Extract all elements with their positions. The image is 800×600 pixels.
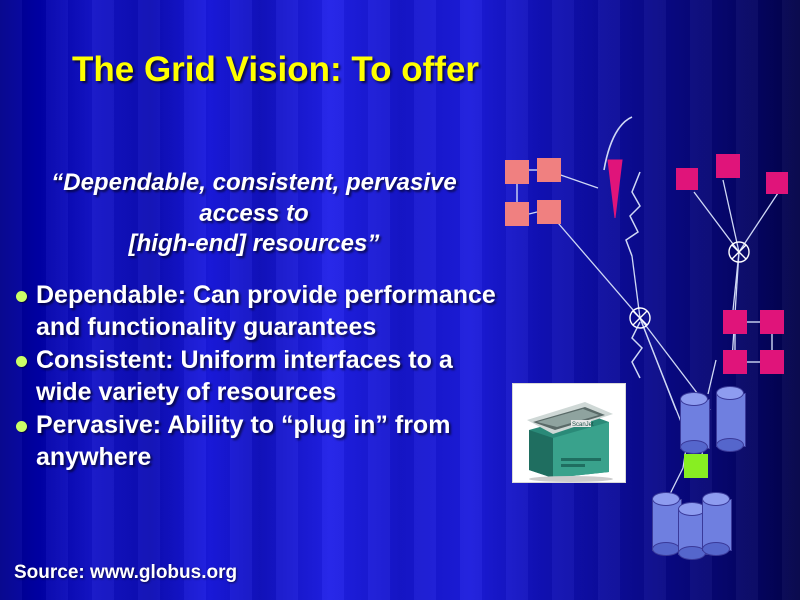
grid-network-diagram bbox=[480, 110, 800, 580]
quote-line-3: [high-end] resources” bbox=[14, 229, 494, 260]
bullet-dot-icon bbox=[16, 291, 27, 302]
list-item: Dependable: Can provide performance and … bbox=[14, 280, 504, 343]
database-cylinder-1 bbox=[680, 392, 708, 454]
database-cylinder-3 bbox=[652, 492, 680, 556]
database-cylinder-5 bbox=[702, 492, 730, 556]
bullet-list: Dependable: Can provide performance and … bbox=[14, 280, 504, 475]
bullet-text: Consistent: Uniform interfaces to a wide… bbox=[36, 346, 453, 406]
source-credit: Source: www.globus.org bbox=[14, 562, 237, 584]
node-magenta-3 bbox=[766, 172, 788, 194]
quote-line-2: access to bbox=[14, 199, 494, 230]
bullet-text: Dependable: Can provide performance and … bbox=[36, 281, 496, 341]
slide-canvas: The Grid Vision: To offer “Dependable, c… bbox=[0, 0, 800, 600]
bullet-text: Pervasive: Ability to “plug in” from any… bbox=[36, 411, 450, 471]
scanner-illustration: ScanJet bbox=[513, 384, 625, 482]
node-magenta-4 bbox=[723, 310, 747, 334]
quote-block: “Dependable, consistent, pervasive acces… bbox=[14, 168, 494, 260]
database-cylinder-2 bbox=[716, 386, 744, 452]
node-green-sensor bbox=[684, 454, 708, 478]
node-pink-2 bbox=[537, 158, 561, 182]
scanner-instrument-image: ScanJet bbox=[512, 383, 626, 483]
node-magenta-1 bbox=[676, 168, 698, 190]
node-magenta-2 bbox=[716, 154, 740, 178]
svg-text:ScanJet: ScanJet bbox=[572, 422, 594, 428]
list-item: Consistent: Uniform interfaces to a wide… bbox=[14, 345, 504, 408]
page-title: The Grid Vision: To offer bbox=[72, 50, 479, 90]
node-magenta-7 bbox=[760, 350, 784, 374]
bullet-dot-icon bbox=[16, 421, 27, 432]
node-magenta-5 bbox=[760, 310, 784, 334]
node-pink-4 bbox=[537, 200, 561, 224]
node-pink-1 bbox=[505, 160, 529, 184]
bullet-dot-icon bbox=[16, 356, 27, 367]
antenna-icon bbox=[608, 160, 622, 218]
node-magenta-6 bbox=[723, 350, 747, 374]
node-pink-3 bbox=[505, 202, 529, 226]
quote-line-1: “Dependable, consistent, pervasive bbox=[14, 168, 494, 199]
list-item: Pervasive: Ability to “plug in” from any… bbox=[14, 410, 504, 473]
